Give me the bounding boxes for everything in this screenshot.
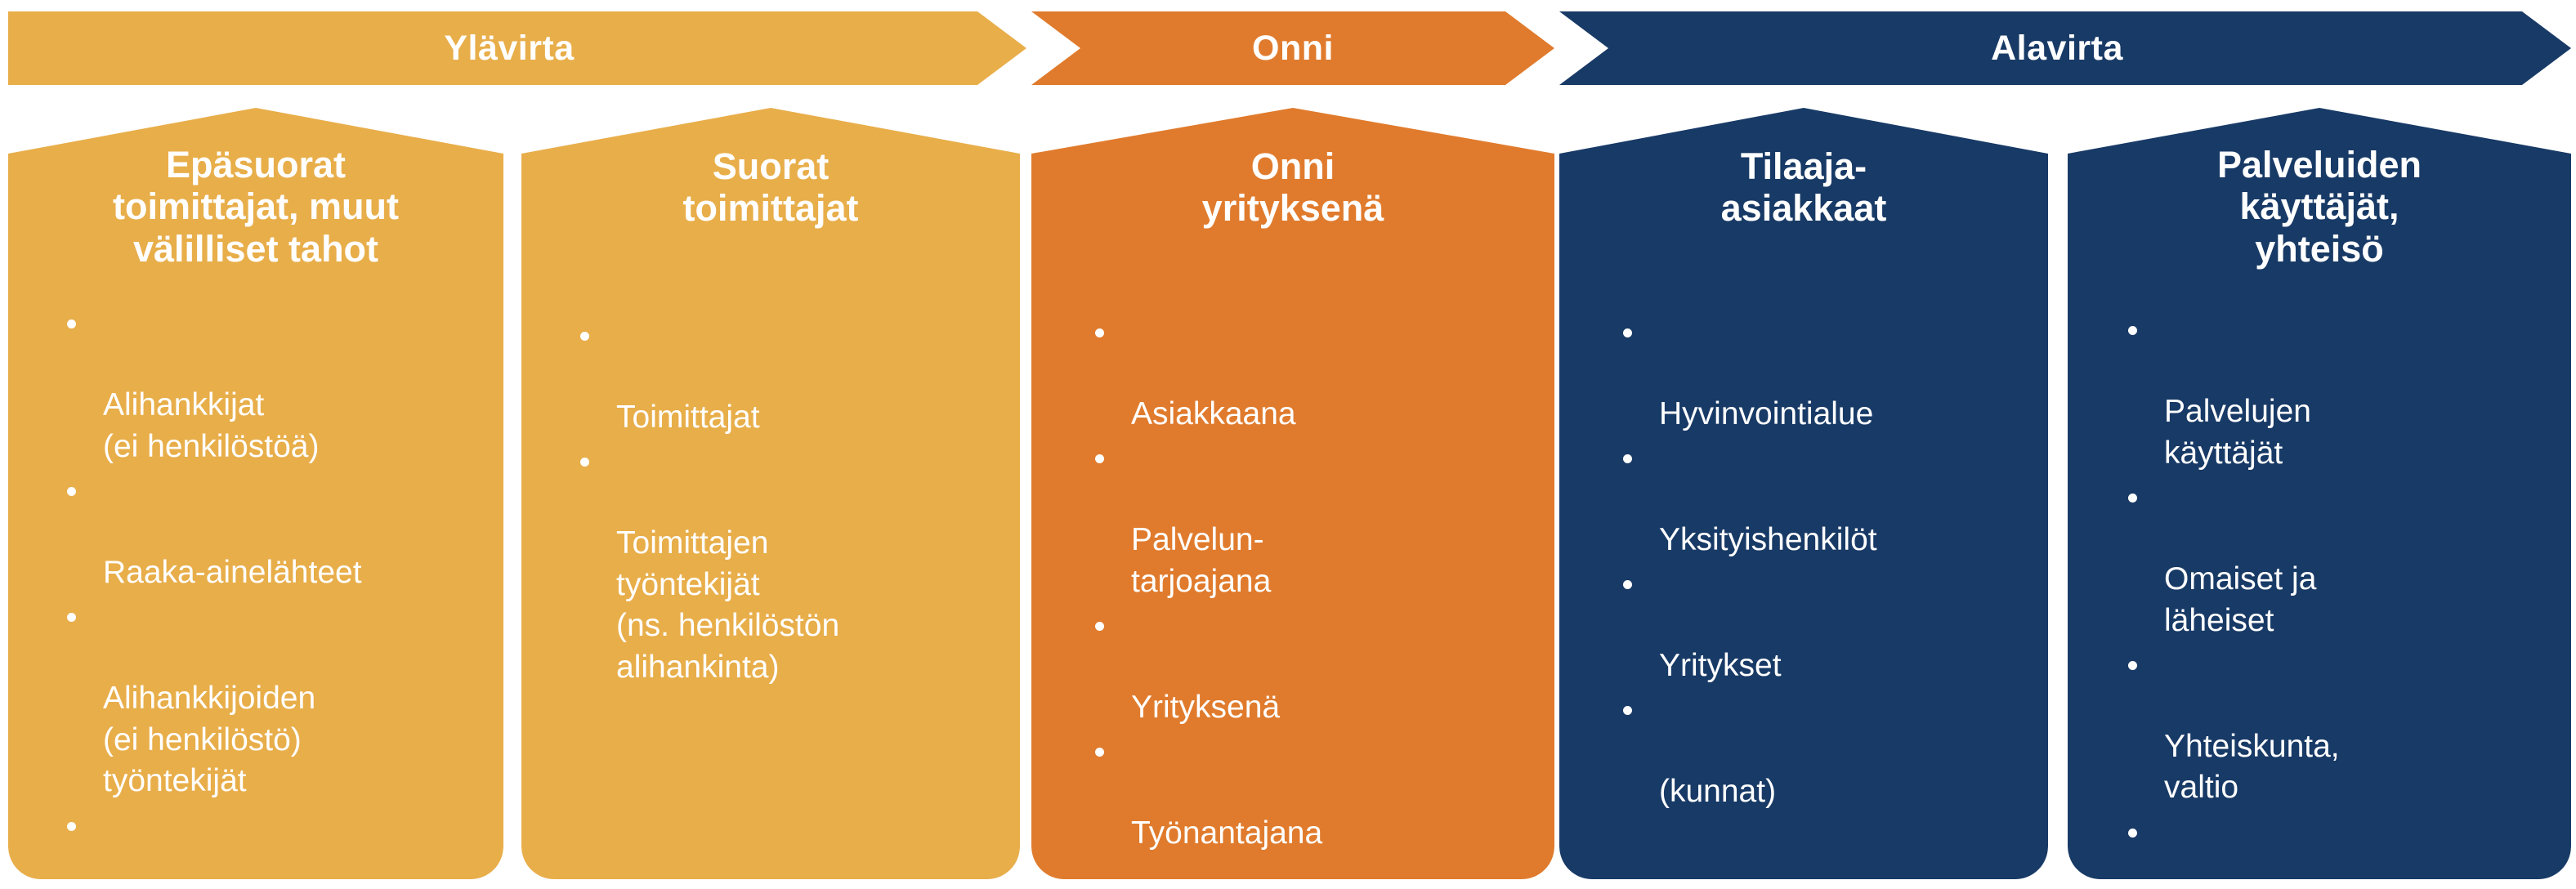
- bullet-dot-icon: [2128, 494, 2137, 503]
- bullet-dot-icon: [2128, 326, 2137, 335]
- banner-segment-label: Alavirta: [1991, 31, 2123, 66]
- card-epasuorat-toimittajat[interactable]: Epäsuorat toimittajat, muut välilliset t…: [8, 108, 503, 879]
- list-item-label: Omaiset ja läheiset: [2164, 561, 2316, 638]
- list-item: Yksityishenkilöt: [1608, 437, 1999, 561]
- bullet-dot-icon: [67, 487, 76, 496]
- bullet-dot-icon: [2128, 661, 2137, 670]
- list-item-label: Asiakkaana: [1131, 396, 1296, 431]
- list-item: Raaka-ainelähteet: [52, 470, 459, 594]
- card-bullet-list: Toimittajat Toimittajen työntekijät (ns.…: [566, 315, 976, 689]
- card-row: Epäsuorat toimittajat, muut välilliset t…: [0, 108, 2576, 879]
- list-item-label: Raaka-ainelähteet: [103, 555, 362, 590]
- value-chain-diagram: Ylävirta Onni Alavirta Epäsuorat toimitt…: [0, 0, 2576, 889]
- card-onni-yrityksena[interactable]: Onni yrityksenä Asiakkaana Palvelun- tar…: [1031, 108, 1554, 879]
- card-content: Onni yrityksenä Asiakkaana Palvelun- tar…: [1053, 145, 1533, 855]
- card-content: Tilaaja- asiakkaat Hyvinvointialue Yksit…: [1581, 145, 2027, 813]
- bullet-dot-icon: [1095, 454, 1104, 463]
- card-suorat-toimittajat[interactable]: Suorat toimittajat Toimittajat Toimittaj…: [521, 108, 1020, 879]
- banner-segment-label: Ylävirta: [444, 31, 574, 66]
- list-item: Asiakkaana: [1080, 311, 1505, 436]
- list-item: Alihankkijat (ei henkilöstöä): [52, 302, 459, 468]
- list-item: Toimittajen työntekijät (ns. henkilöstön…: [566, 440, 976, 689]
- list-item: Työnantajana: [1080, 730, 1505, 854]
- card-bullet-list: Alihankkijat (ei henkilöstöä) Raaka-aine…: [52, 302, 459, 879]
- card-bullet-list: Palvelujen käyttäjät Omaiset ja läheiset…: [2113, 309, 2525, 879]
- list-item-label: Palvelun- tarjoajana: [1131, 522, 1271, 599]
- list-item-label: Yksityishenkilöt: [1659, 522, 1877, 557]
- card-title: Tilaaja- asiakkaat: [1608, 145, 1999, 230]
- bullet-dot-icon: [1623, 328, 1632, 337]
- list-item: (kunnat): [1608, 689, 1999, 813]
- list-item: Toimittajat: [566, 315, 976, 439]
- list-item-label: Toimittajat: [616, 400, 760, 435]
- card-palveluiden-kayttajat[interactable]: Palveluiden käyttäjät, yhteisö Palveluje…: [2068, 108, 2571, 879]
- list-item: Hyvinvointialue: [1608, 311, 1999, 436]
- bullet-dot-icon: [1623, 454, 1632, 463]
- list-item: Ympäristö, yhteiskunta: [52, 804, 459, 879]
- bullet-dot-icon: [1095, 328, 1104, 337]
- bullet-dot-icon: [67, 613, 76, 622]
- banner-segment-ylavirta[interactable]: Ylävirta: [8, 11, 1026, 85]
- banner-segment-label: Onni: [1252, 31, 1334, 66]
- card-title: Suorat toimittajat: [566, 145, 976, 230]
- card-bullet-list: Hyvinvointialue Yksityishenkilöt Yrityks…: [1608, 311, 1999, 813]
- list-item: Yrityksenä: [1080, 604, 1505, 728]
- list-item-label: Yrityksenä: [1131, 690, 1280, 725]
- list-item: Yhteiskunta, valtio: [2113, 643, 2525, 809]
- list-item: Yritykset: [1608, 563, 1999, 687]
- card-content: Epäsuorat toimittajat, muut välilliset t…: [29, 144, 482, 879]
- list-item-label: Alihankkijoiden (ei henkilöstö) työnteki…: [103, 681, 315, 798]
- card-title: Palveluiden käyttäjät, yhteisö: [2113, 144, 2525, 270]
- card-title: Onni yrityksenä: [1080, 145, 1505, 230]
- list-item: Omaiset ja läheiset: [2113, 476, 2525, 642]
- bullet-dot-icon: [1095, 622, 1104, 631]
- card-content: Suorat toimittajat Toimittajat Toimittaj…: [543, 145, 999, 689]
- list-item-label: Palvelujen käyttäjät: [2164, 394, 2311, 471]
- list-item-label: (kunnat): [1659, 774, 1776, 809]
- bullet-dot-icon: [580, 458, 589, 467]
- bullet-dot-icon: [1095, 748, 1104, 757]
- list-item-label: Toimittajen työntekijät (ns. henkilöstön…: [616, 525, 839, 685]
- bullet-dot-icon: [1623, 706, 1632, 715]
- bullet-dot-icon: [2128, 829, 2137, 838]
- bullet-dot-icon: [67, 319, 76, 328]
- card-tilaaja-asiakkaat[interactable]: Tilaaja- asiakkaat Hyvinvointialue Yksit…: [1559, 108, 2048, 879]
- list-item-label: Hyvinvointialue: [1659, 396, 1873, 431]
- bullet-dot-icon: [1623, 580, 1632, 589]
- banner-segment-alavirta[interactable]: Alavirta: [1559, 11, 2571, 85]
- card-title: Epäsuorat toimittajat, muut välilliset t…: [52, 144, 459, 270]
- list-item-label: Alihankkijat (ei henkilöstöä): [103, 387, 319, 464]
- list-item-label: Yhteiskunta, valtio: [2164, 729, 2340, 806]
- banner-segment-onni[interactable]: Onni: [1031, 11, 1554, 85]
- stage-banner: Ylävirta Onni Alavirta: [0, 11, 2576, 85]
- list-item-label: Yritykset: [1659, 648, 1782, 683]
- list-item: Alihankkijoiden (ei henkilöstö) työnteki…: [52, 596, 459, 802]
- list-item: Palvelujen käyttäjät: [2113, 309, 2525, 475]
- list-item: Ympäristö: [2113, 811, 2525, 879]
- list-item-label: Työnantajana: [1131, 815, 1322, 851]
- bullet-dot-icon: [67, 822, 76, 831]
- card-content: Palveluiden käyttäjät, yhteisö Palveluje…: [2089, 144, 2550, 879]
- list-item: Palvelun- tarjoajana: [1080, 437, 1505, 603]
- bullet-dot-icon: [580, 332, 589, 341]
- card-bullet-list: Asiakkaana Palvelun- tarjoajana Yritykse…: [1080, 311, 1505, 855]
